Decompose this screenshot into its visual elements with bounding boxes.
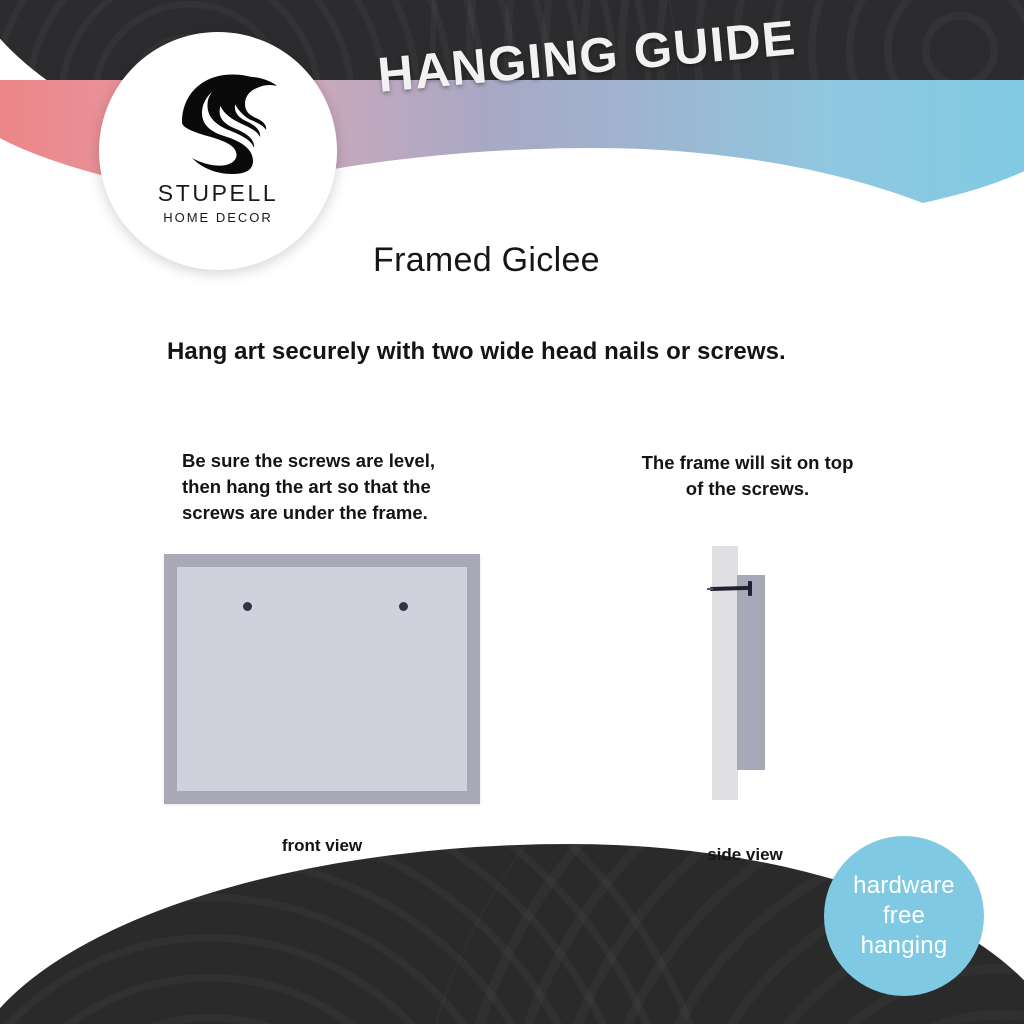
badge-line-3: hanging <box>861 931 948 961</box>
front-view-frame-interior <box>177 567 467 791</box>
side-view-frame <box>737 575 765 770</box>
front-view-caption-line-1: Be sure the screws are level, <box>182 448 482 474</box>
brand-name: STUPELL <box>158 180 278 207</box>
front-view-caption: Be sure the screws are level, then hang … <box>182 448 482 526</box>
screw-dot-right-icon <box>399 602 408 611</box>
side-view-caption-line-1: The frame will sit on top <box>605 450 890 476</box>
badge-line-1: hardware <box>853 871 955 901</box>
stupell-swirl-logo-icon <box>158 56 278 174</box>
side-view-caption: The frame will sit on top of the screws. <box>605 450 890 502</box>
front-view-caption-line-3: screws are under the frame. <box>182 500 482 526</box>
screw-tip-icon <box>707 588 713 590</box>
side-view-wall <box>712 546 738 800</box>
lead-instruction: Hang art securely with two wide head nai… <box>167 338 786 366</box>
front-view-label: front view <box>222 836 422 856</box>
front-view-frame-diagram <box>164 554 480 804</box>
brand-logo-badge: STUPELL HOME DECOR <box>99 32 337 270</box>
screw-dot-left-icon <box>243 602 252 611</box>
hardware-free-hanging-badge: hardware free hanging <box>824 836 984 996</box>
side-view-frame-diagram <box>705 540 785 810</box>
side-view-label: side view <box>655 845 835 865</box>
product-title: Framed Giclee <box>373 241 600 280</box>
badge-line-2: free <box>883 901 925 931</box>
side-view-caption-line-2: of the screws. <box>605 476 890 502</box>
screw-head-icon <box>748 581 752 596</box>
front-view-caption-line-2: then hang the art so that the <box>182 474 482 500</box>
hanging-guide-page: HANGING GUIDE STUPELL HOME DECOR Framed … <box>0 0 1024 1024</box>
brand-tagline: HOME DECOR <box>163 210 273 225</box>
